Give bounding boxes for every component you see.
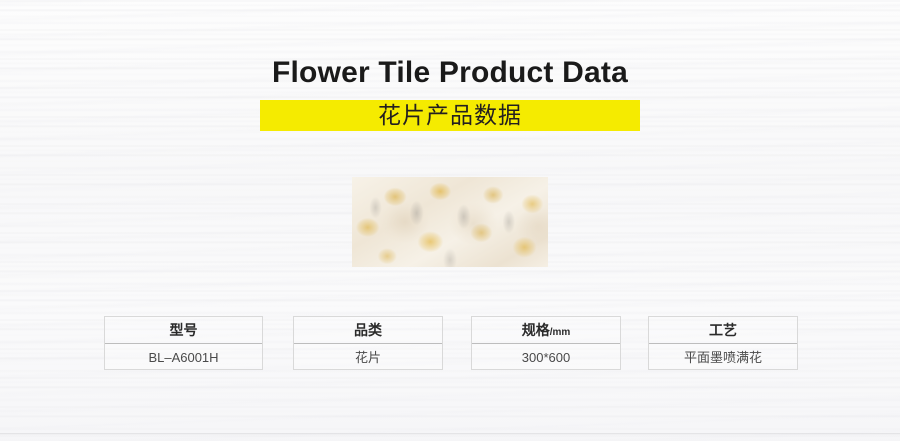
spec-cell-process: 工艺 平面墨喷满花 [648,316,798,370]
spec-header-category: 品类 [294,317,442,344]
spec-header-size-unit: /mm [550,327,571,338]
spec-header-category-label: 品类 [354,322,382,338]
spec-value-process: 平面墨喷满花 [649,344,797,371]
spec-value-model: BL–A6001H [105,344,262,371]
spec-cell-model: 型号 BL–A6001H [104,316,263,370]
spec-value-size: 300*600 [472,344,620,371]
spec-header-size-label: 规格 [522,322,550,338]
page-title-chinese: 花片产品数据 [260,100,640,131]
product-image [352,177,548,267]
spec-header-model: 型号 [105,317,262,344]
spec-header-size: 规格/mm [472,317,620,344]
spec-table: 型号 BL–A6001H 品类 花片 规格/mm 300*600 工艺 平面墨喷… [104,316,798,372]
spec-cell-size: 规格/mm 300*600 [471,316,621,370]
spec-header-model-label: 型号 [170,322,198,338]
spec-value-category: 花片 [294,344,442,371]
spec-header-process: 工艺 [649,317,797,344]
page-title-english: Flower Tile Product Data [0,55,900,91]
spec-cell-category: 品类 花片 [293,316,443,370]
product-data-page: Flower Tile Product Data 花片产品数据 型号 BL–A6… [0,0,900,441]
spec-header-process-label: 工艺 [709,322,737,338]
